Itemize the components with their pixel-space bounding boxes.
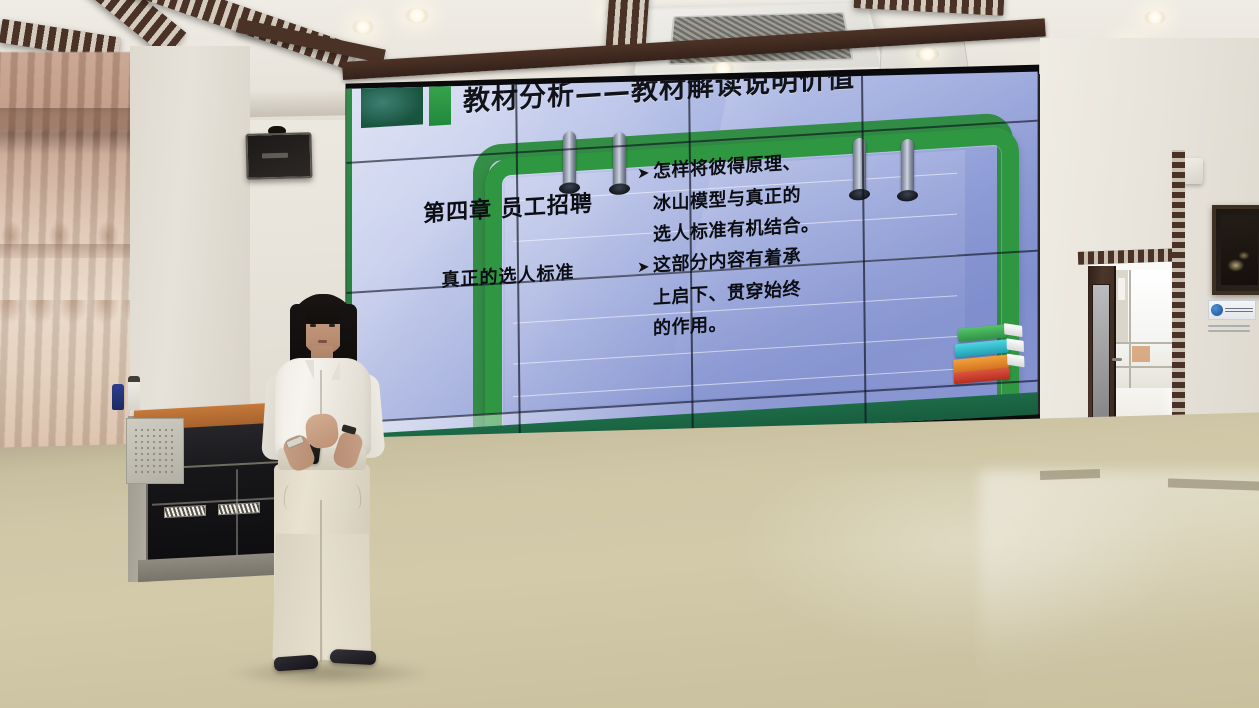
presenter	[248, 288, 398, 680]
slide-logo-block-dark	[361, 84, 423, 129]
bullet-arrow-icon: ➤	[637, 157, 653, 189]
curtain-header-band	[0, 108, 140, 130]
cabinet-equipment	[164, 505, 206, 518]
floor-reflection-doorway	[980, 470, 1259, 708]
video-wall-screen[interactable]: 教材分析——教材解读说明价值	[345, 70, 1039, 462]
wall-speaker	[245, 132, 312, 180]
presenter-leg-left	[272, 533, 323, 662]
plaque-text-lines	[1225, 306, 1253, 313]
book-pages	[1007, 354, 1025, 368]
presenter-eye	[329, 324, 335, 327]
bullet-arrow-icon: ➤	[637, 251, 653, 283]
white-bottle	[128, 376, 140, 410]
binder-ring-icon	[901, 139, 914, 197]
presenter-trouser-seam	[320, 500, 322, 662]
door-glass-panel	[1092, 284, 1110, 436]
presenter-collar-right	[331, 360, 340, 380]
curtain-lower-pattern	[0, 300, 140, 390]
framed-picture	[1212, 205, 1259, 295]
photo-scene: 教材分析——教材解读说明价值	[0, 0, 1259, 708]
plaque-badge-icon	[1211, 304, 1223, 316]
presenter-shoe-left	[274, 654, 319, 671]
presenter-eye	[310, 324, 316, 327]
curtain-pattern	[0, 188, 140, 308]
window-mullion	[1129, 270, 1131, 388]
presenter-collar-left	[305, 360, 314, 380]
presenter-hands	[304, 412, 339, 449]
ceiling-lattice-beam	[606, 0, 651, 49]
wall-pillar	[130, 46, 250, 466]
blue-bottle	[112, 384, 124, 410]
binder-ring-icon	[563, 131, 576, 189]
presenter-shoe-right	[330, 649, 377, 665]
downlight	[352, 20, 374, 34]
speaker-logo	[262, 153, 288, 159]
binder-ring-icon	[613, 132, 626, 190]
slide-right-column: ➤ 怎样将彼得原理、 冰山模型与真正的 选人标准有机结合。 ➤ 这部分内容有着承…	[637, 144, 867, 346]
downlight	[405, 8, 429, 23]
stack-of-books-icon	[952, 320, 1026, 388]
plaque-subtext	[1208, 322, 1250, 338]
panel-speaker-grille-icon	[133, 427, 177, 475]
presenter-leg-right	[321, 534, 371, 661]
book-pages	[1006, 338, 1024, 352]
downlight	[916, 47, 939, 61]
slide-logo-block-green	[429, 80, 451, 126]
presenter-pocket-left	[283, 483, 301, 510]
notebook-rule	[513, 336, 957, 365]
building-outside	[1118, 278, 1125, 300]
corner-wall-speaker	[1183, 158, 1203, 184]
book-pages	[1004, 323, 1023, 337]
information-plaque	[1208, 300, 1256, 320]
picture-artwork	[1221, 215, 1258, 285]
building-outside	[1132, 346, 1150, 362]
slide-chapter-heading: 第四章 员工招聘	[393, 183, 623, 230]
cabinet-divider	[236, 469, 238, 555]
downlight	[1144, 11, 1166, 24]
door-handle[interactable]	[1112, 358, 1122, 361]
presenter-mouth	[318, 340, 327, 343]
lectern-control-panel[interactable]	[126, 418, 184, 484]
